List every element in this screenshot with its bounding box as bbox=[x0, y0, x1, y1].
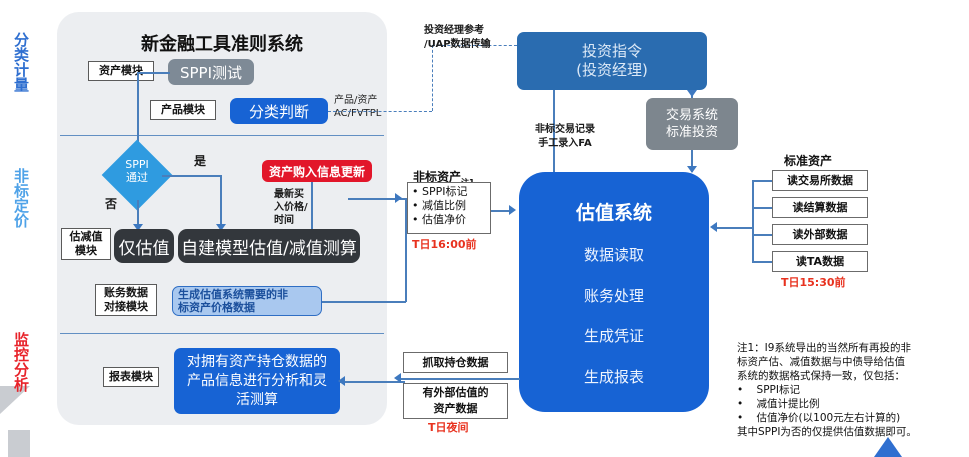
investment-instruction-line2: (投资经理) bbox=[576, 61, 648, 80]
sppi-diamond-line1: SPPI bbox=[112, 158, 162, 171]
diagram-canvas: 分类计量 非标定价 监控分析 新金融工具准则系统 资产模块 SPPI测试 产品模… bbox=[0, 0, 969, 457]
module-tag-impairment: 估减值 模块 bbox=[61, 228, 111, 260]
self-built-model-box[interactable]: 自建模型估值/减值测算 bbox=[178, 229, 360, 263]
standard-assets-branch-3 bbox=[752, 261, 772, 263]
trade-system-line2: 标准投资 bbox=[666, 124, 718, 141]
standard-assets-deadline: T日15:30前 bbox=[781, 276, 846, 289]
nonstandard-asset-item-1-label: 减值比例 bbox=[422, 199, 466, 212]
footnote-bullet-2: • 减值计提比例 bbox=[737, 397, 969, 411]
standard-asset-box-3[interactable]: 读TA数据 bbox=[772, 251, 868, 272]
only-valuation-label: 仅估值 bbox=[119, 234, 170, 259]
footnote-line-2: 标资产估、减值数据与中债导给估值 bbox=[737, 355, 969, 369]
sppi-test-label: SPPI测试 bbox=[180, 62, 242, 83]
uap-note-line1: 投资经理参考 bbox=[424, 24, 520, 38]
report-box-line1: 对拥有资产持仓数据的 bbox=[187, 353, 327, 372]
arrow-right-into-valuation bbox=[509, 205, 516, 215]
footnote-bullet-3: • 估值净价(以100元左右计算的) bbox=[737, 411, 969, 425]
fetch-position-data-label: 抓取持仓数据 bbox=[423, 356, 489, 370]
valuation-system-item-0: 数据读取 bbox=[584, 244, 644, 265]
asset-purchase-update-label: 资产购入信息更新 bbox=[269, 163, 365, 180]
external-valuation-data-box[interactable]: 有外部估值的 资产数据 bbox=[403, 383, 508, 419]
self-built-model-label: 自建模型估值/减值测算 bbox=[181, 234, 357, 259]
price-callout-line1: 生成估值系统需要的非 bbox=[178, 288, 288, 301]
uap-transfer-note: 投资经理参考 /UAP数据传输 bbox=[424, 24, 520, 52]
investment-instruction-line1: 投资指令 bbox=[582, 42, 642, 61]
report-box-line2: 产品信息进行分析和灵 bbox=[187, 372, 327, 391]
connector-yes-horizontal bbox=[162, 175, 221, 177]
price-data-callout[interactable]: 生成估值系统需要的非 标资产价格数据 bbox=[172, 286, 322, 316]
footnote-block: 注1：I9系统导出的当然所有再投的非 标资产估、减值数据与中债导给估值 系统的数… bbox=[737, 341, 969, 439]
footnote-bullet-1: • SPPI标记 bbox=[737, 383, 969, 397]
connector-yes-vertical bbox=[220, 175, 222, 228]
module-tag-accounting: 账务数据 对接模块 bbox=[95, 284, 157, 316]
panel-divider-2 bbox=[60, 333, 384, 334]
dashed-right-down bbox=[432, 45, 433, 111]
connector-valuation-to-position bbox=[398, 378, 520, 380]
external-valuation-line1: 有外部估值的 bbox=[423, 385, 489, 401]
panel-title: 新金融工具准则系统 bbox=[57, 30, 387, 56]
phase-label-classification: 分类计量 bbox=[8, 32, 34, 92]
standard-assets-trunk bbox=[716, 227, 752, 229]
investment-instruction-box[interactable]: 投资指令 (投资经理) bbox=[517, 32, 707, 90]
valuation-system-item-3: 生成报表 bbox=[584, 366, 644, 387]
arrow-right-to-nonstandard-box bbox=[395, 193, 402, 203]
branch-label-yes: 是 bbox=[194, 155, 206, 167]
classification-judgement-box[interactable]: 分类判断 bbox=[230, 98, 328, 124]
valuation-system-item-2: 生成凭证 bbox=[584, 325, 644, 346]
standard-assets-branch-0 bbox=[752, 180, 772, 182]
nonstandard-asset-item-0-label: SPPI标记 bbox=[422, 185, 468, 198]
panel-divider-1 bbox=[60, 135, 384, 136]
connector-purchase-to-model bbox=[311, 182, 313, 230]
nonstandard-asset-item-2: • 估值净价 bbox=[412, 213, 486, 227]
classification-output-line1: 产品/资产 bbox=[334, 94, 404, 107]
decoration-arrow-bottom-right bbox=[874, 437, 902, 457]
connector-asset-tag-to-sppi bbox=[137, 72, 170, 74]
valuation-system-box[interactable]: 估值系统 数据读取 账务处理 生成凭证 生成报表 bbox=[519, 172, 709, 412]
phase-label-monitor-analysis: 监控分析 bbox=[8, 332, 34, 392]
footnote-line-1: 注1：I9系统导出的当然所有再投的非 bbox=[737, 341, 969, 355]
module-tag-accounting-line2: 对接模块 bbox=[104, 300, 148, 314]
nonstandard-asset-item-0: • SPPI标记 bbox=[412, 185, 486, 199]
connector-price-callout-right bbox=[322, 301, 406, 303]
nonstandard-assets-box[interactable]: • SPPI标记 • 减值比例 • 估值净价 bbox=[407, 182, 491, 234]
module-tag-impairment-line2: 模块 bbox=[75, 244, 97, 258]
manual-note-line1: 非标交易记录 bbox=[520, 123, 610, 137]
classification-output-note: 产品/资产 AC/FVTPL bbox=[334, 94, 404, 120]
footnote-bullet-1-label: SPPI标记 bbox=[757, 384, 800, 396]
module-tag-report: 报表模块 bbox=[103, 367, 159, 387]
valuation-system-item-1: 账务处理 bbox=[584, 285, 644, 306]
standard-assets-heading: 标准资产 bbox=[784, 152, 832, 169]
sppi-diamond-text: SPPI 通过 bbox=[112, 158, 162, 184]
arrow-left-into-valuation-system bbox=[710, 222, 717, 232]
position-data-deadline: T日夜间 bbox=[428, 421, 469, 434]
arrow-left-to-position-data bbox=[394, 373, 401, 383]
standard-assets-branch-2 bbox=[752, 234, 772, 236]
module-tag-product: 产品模块 bbox=[150, 100, 216, 120]
only-valuation-box[interactable]: 仅估值 bbox=[114, 229, 174, 263]
standard-asset-box-1[interactable]: 读结算数据 bbox=[772, 197, 868, 218]
standard-asset-box-2[interactable]: 读外部数据 bbox=[772, 224, 868, 245]
footnote-line-4: 其中SPPI为否的仅提供估值数据即可。 bbox=[737, 425, 969, 439]
price-callout-line2: 标资产价格数据 bbox=[178, 301, 255, 314]
nonstandard-asset-item-2-label: 估值净价 bbox=[422, 213, 466, 226]
phase-label-nonstandard-pricing: 非标定价 bbox=[8, 168, 34, 228]
arrow-left-to-report-box bbox=[338, 376, 345, 386]
footnote-bullet-3-label: 估值净价(以100元左右计算的) bbox=[757, 412, 901, 424]
standard-assets-branch-1 bbox=[752, 207, 772, 209]
nonstandard-asset-item-1: • 减值比例 bbox=[412, 199, 486, 213]
valuation-system-title: 估值系统 bbox=[576, 198, 652, 225]
manual-note-line2: 手工录入FA bbox=[520, 137, 610, 151]
module-tag-report-label: 报表模块 bbox=[109, 371, 153, 383]
classification-output-line2: AC/FVTPL bbox=[334, 107, 404, 120]
branch-label-no: 否 bbox=[105, 198, 117, 210]
standard-asset-label-1: 读结算数据 bbox=[793, 201, 848, 215]
fetch-position-data-box[interactable]: 抓取持仓数据 bbox=[403, 352, 508, 373]
sppi-diamond-line2: 通过 bbox=[112, 171, 162, 184]
manual-fa-note: 非标交易记录 手工录入FA bbox=[520, 123, 610, 151]
module-tag-asset: 资产模块 bbox=[88, 61, 154, 81]
arrow-down-to-trade-system bbox=[687, 90, 697, 97]
module-tag-product-label: 产品模块 bbox=[161, 104, 205, 116]
trade-system-box[interactable]: 交易系统 标准投资 bbox=[646, 98, 738, 150]
module-tag-impairment-line1: 估减值 bbox=[70, 230, 103, 244]
module-tag-accounting-line1: 账务数据 bbox=[104, 286, 148, 300]
standard-asset-label-0: 读交易所数据 bbox=[787, 174, 853, 188]
decoration-block bbox=[8, 430, 30, 457]
nonstandard-assets-deadline: T日16:00前 bbox=[412, 238, 477, 251]
asset-purchase-update-box[interactable]: 资产购入信息更新 bbox=[262, 160, 372, 182]
classification-judgement-label: 分类判断 bbox=[249, 101, 309, 122]
standard-asset-label-3: 读TA数据 bbox=[796, 255, 844, 269]
report-box-line3: 活测算 bbox=[236, 391, 278, 410]
standard-asset-box-0[interactable]: 读交易所数据 bbox=[772, 170, 868, 191]
report-analysis-box[interactable]: 对拥有资产持仓数据的 产品信息进行分析和灵 活测算 bbox=[174, 348, 340, 414]
standard-asset-label-2: 读外部数据 bbox=[793, 228, 848, 242]
uap-note-line2: /UAP数据传输 bbox=[424, 38, 520, 52]
footnote-line-3: 系统的数据格式保持一致，仅包括： bbox=[737, 369, 969, 383]
trade-system-line1: 交易系统 bbox=[666, 107, 718, 124]
sppi-test-box[interactable]: SPPI测试 bbox=[168, 59, 254, 85]
footnote-bullet-2-label: 减值计提比例 bbox=[757, 398, 820, 410]
standard-assets-bracket-vertical bbox=[752, 180, 754, 262]
dashed-classify-to-right bbox=[328, 111, 432, 112]
external-valuation-line2: 资产数据 bbox=[434, 401, 478, 417]
